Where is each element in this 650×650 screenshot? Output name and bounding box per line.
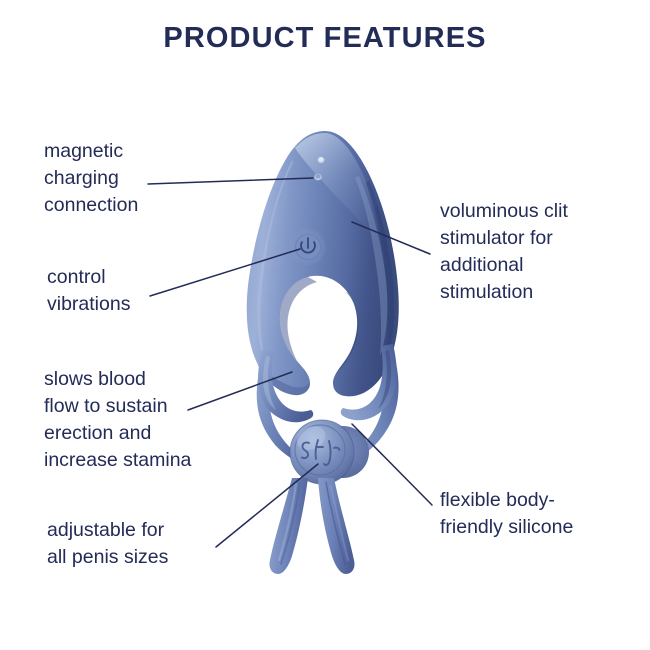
callout-magnetic-charging-connection: magnetic charging connection <box>44 138 224 219</box>
product-features-infographic: PRODUCT FEATURES <box>0 0 650 650</box>
callout-voluminous-clit-stimulator: voluminous clit stimulator for additiona… <box>440 198 630 306</box>
callout-slows-blood-flow: slows blood flow to sustain erection and… <box>44 366 244 474</box>
callout-flexible-body-friendly-silicone: flexible body- friendly silicone <box>440 487 630 541</box>
power-button-icon <box>289 228 327 266</box>
callout-control-vibrations: control vibrations <box>47 264 207 318</box>
callout-adjustable-for-all-penis-sizes: adjustable for all penis sizes <box>47 517 227 571</box>
